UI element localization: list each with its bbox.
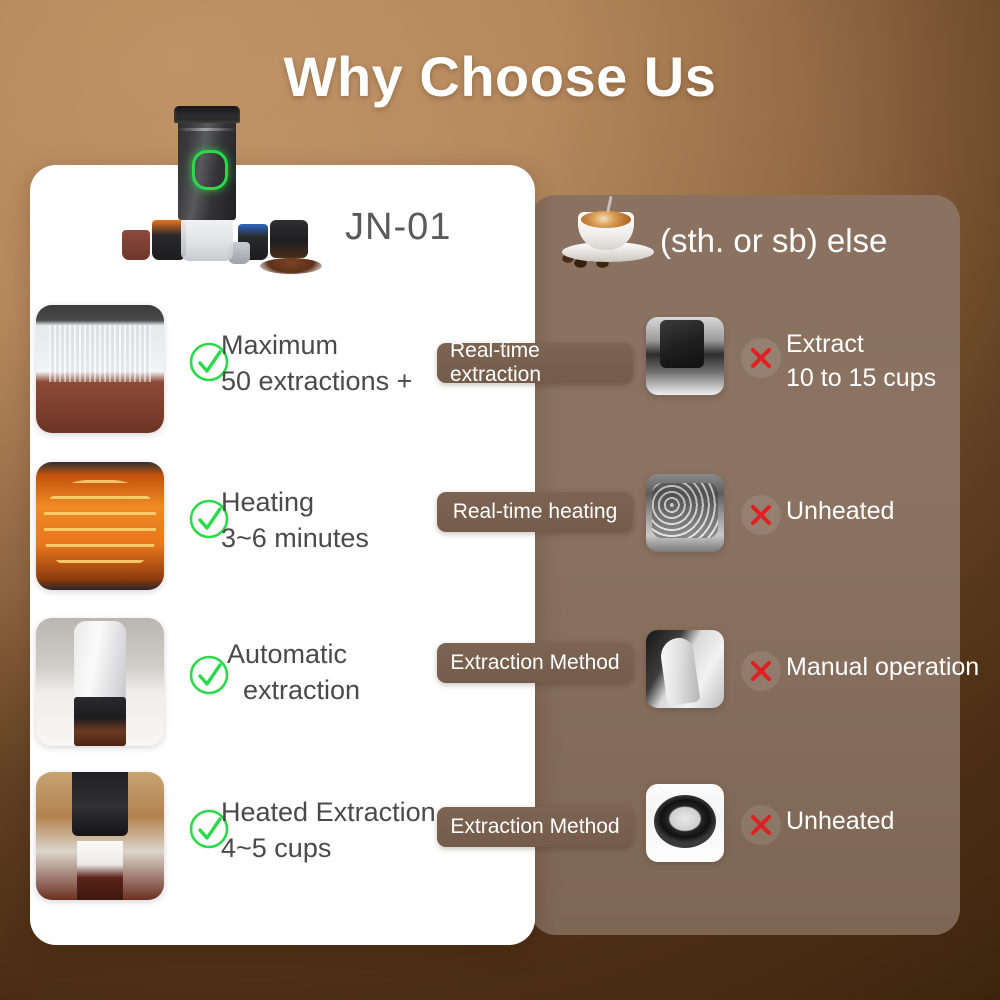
cross-icon xyxy=(741,495,781,535)
cross-icon xyxy=(741,651,781,691)
machine-cup-base xyxy=(181,213,233,261)
comparison-row-right: Unheated xyxy=(646,772,996,902)
heating-coils-icon xyxy=(36,462,164,590)
portable-espresso-machine-icon xyxy=(120,108,335,273)
capsule-open xyxy=(270,220,308,258)
hand-pressing-plunger-icon xyxy=(646,630,724,708)
steam xyxy=(606,196,612,212)
cross-icon xyxy=(741,805,781,845)
row-text: Automatic extraction xyxy=(227,636,360,708)
crema xyxy=(581,211,631,228)
row-badge: Real-time extraction xyxy=(437,343,633,383)
infographic-canvas: Why Choose Us JN-01 (sth. or sb) else Ma… xyxy=(0,0,1000,1000)
coffee-chamber-with-grounds-icon xyxy=(36,305,164,433)
row-text: Extract 10 to 15 cups xyxy=(786,327,936,395)
cross-icon xyxy=(741,338,781,378)
check-icon xyxy=(188,654,230,696)
row-text: Heating 3~6 minutes xyxy=(221,484,369,556)
row-badge: Real-time heating xyxy=(437,492,633,532)
row-badge: Extraction Method xyxy=(437,643,633,683)
filter-basket-icon xyxy=(646,784,724,862)
automatic-machine-brewing-icon xyxy=(36,618,164,746)
row-text: Maximum 50 extractions + xyxy=(221,327,412,399)
machine-display xyxy=(192,150,228,190)
row-text: Manual operation xyxy=(786,650,979,684)
product-model-label: JN-01 xyxy=(345,206,515,249)
machine-cap xyxy=(174,106,240,123)
row-text: Unheated xyxy=(786,494,894,528)
comparison-row-right: Extract 10 to 15 cups xyxy=(646,305,996,435)
cappuccino-cup-icon xyxy=(560,198,658,268)
comparison-row-left: Automatic extraction xyxy=(36,618,536,748)
row-badge: Extraction Method xyxy=(437,807,633,847)
capsule-red xyxy=(122,230,150,260)
french-press-pouring-icon xyxy=(646,317,724,395)
row-text: Unheated xyxy=(786,804,894,838)
machine-dispensing-into-cup-icon xyxy=(36,772,164,900)
comparison-row-right: Unheated xyxy=(646,462,996,592)
competitor-label: (sth. or sb) else xyxy=(660,222,970,260)
row-text: Heated Extraction 4~5 cups xyxy=(221,794,436,866)
page-title: Why Choose Us xyxy=(0,44,1000,109)
coffee-grounds xyxy=(260,258,322,274)
machine-ring xyxy=(177,128,237,131)
cold-water-container-icon xyxy=(646,474,724,552)
comparison-row-right: Manual operation xyxy=(646,618,996,748)
